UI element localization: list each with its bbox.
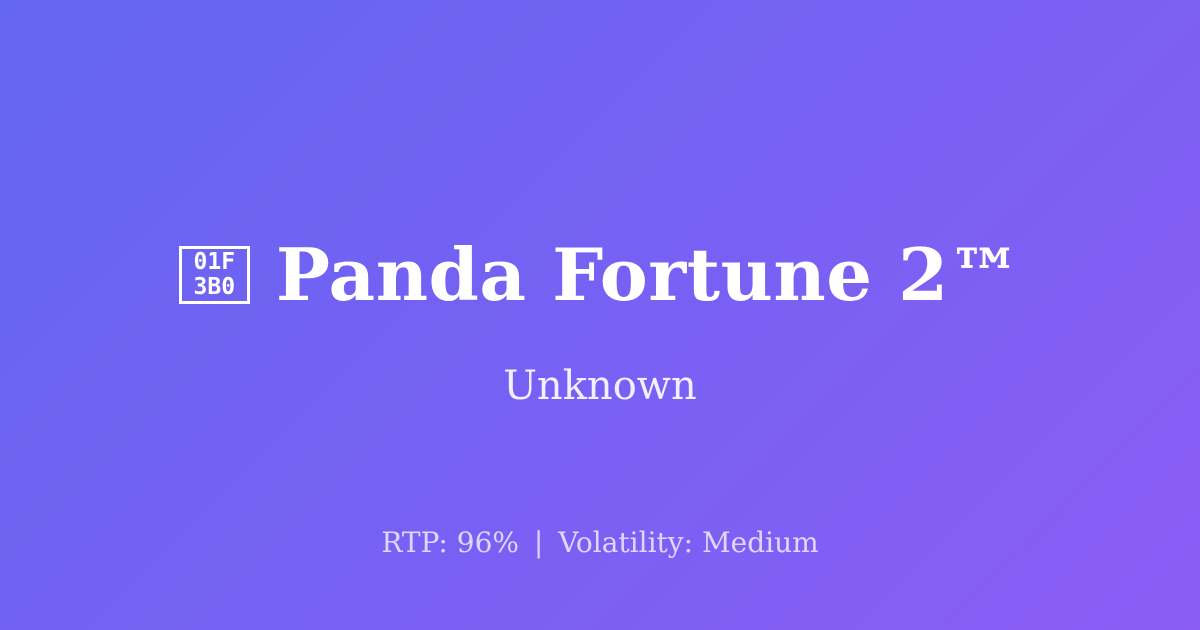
game-stats-line: RTP: 96% | Volatility: Medium <box>0 526 1200 560</box>
page-title: Panda Fortune 2™ <box>276 235 1021 315</box>
codepoint-line-lower: 3B0 <box>194 275 236 300</box>
game-provider-subtitle: Unknown <box>0 362 1200 410</box>
volatility-label: Volatility: <box>558 526 693 559</box>
rtp-value: 96% <box>457 526 519 559</box>
slot-machine-icon: 01F 3B0 <box>179 246 250 304</box>
rtp-label: RTP: <box>381 526 448 559</box>
title-row: 01F 3B0 Panda Fortune 2™ <box>0 231 1200 319</box>
volatility-value: Medium <box>702 526 819 559</box>
meta-separator: | <box>528 526 549 559</box>
game-info-card: 01F 3B0 Panda Fortune 2™ Unknown RTP: 96… <box>0 0 1200 630</box>
codepoint-line-upper: 01F <box>194 250 236 275</box>
